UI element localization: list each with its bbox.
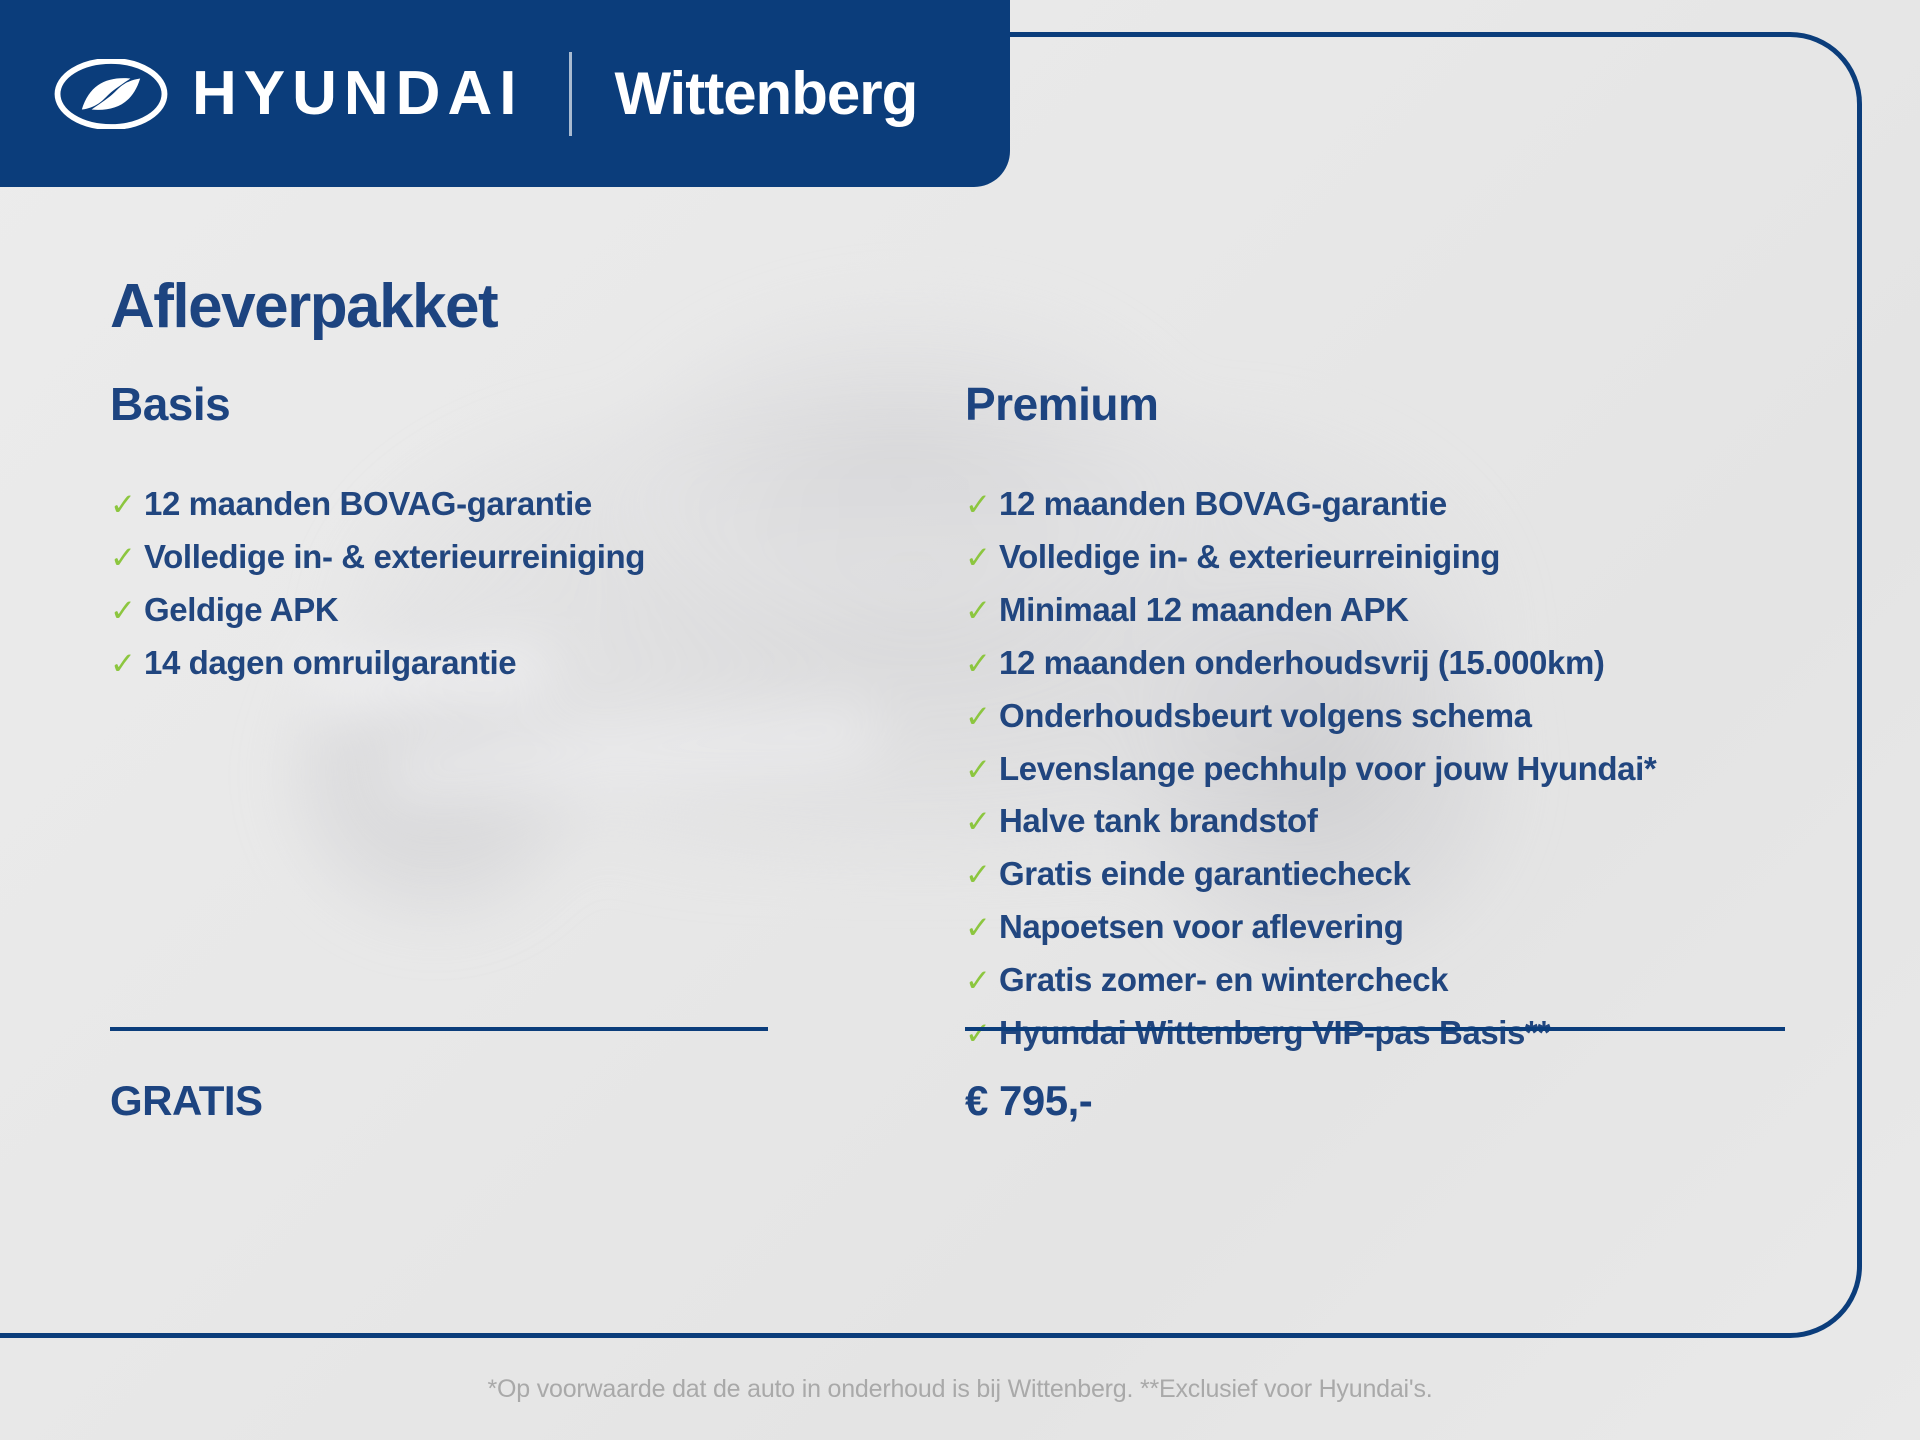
- list-item: ✓ Minimaal 12 maanden APK: [965, 589, 1785, 631]
- check-icon: ✓: [965, 908, 999, 947]
- feature-label: 14 dagen omruilgarantie: [144, 642, 516, 684]
- package-title-basis: Basis: [110, 377, 760, 431]
- check-icon: ✓: [965, 644, 999, 683]
- footnote-text: *Op voorwaarde dat de auto in onderhoud …: [0, 1375, 1920, 1404]
- list-item: ✓ Gratis zomer- en wintercheck: [965, 959, 1785, 1001]
- price-block-premium: € 795,-: [965, 1027, 1785, 1125]
- list-item: ✓ 12 maanden onderhoudsvrij (15.000km): [965, 642, 1785, 684]
- list-item: ✓ 12 maanden BOVAG-garantie: [965, 483, 1785, 525]
- check-icon: ✓: [110, 591, 144, 630]
- price-value-basis: GRATIS: [110, 1077, 760, 1125]
- feature-label: Gratis einde garantiecheck: [999, 853, 1410, 895]
- check-icon: ✓: [965, 591, 999, 630]
- page-title: Afleverpakket: [110, 271, 497, 342]
- feature-label: Napoetsen voor aflevering: [999, 906, 1403, 948]
- check-icon: ✓: [965, 697, 999, 736]
- check-icon: ✓: [965, 855, 999, 894]
- list-item: ✓ Volledige in- & exterieurreiniging: [110, 536, 760, 578]
- feature-list-basis: ✓ 12 maanden BOVAG-garantie ✓ Volledige …: [110, 483, 760, 684]
- feature-label: 12 maanden BOVAG-garantie: [144, 483, 592, 525]
- brand-wordmark: HYUNDAI: [192, 58, 523, 129]
- list-item: ✓ Geldige APK: [110, 589, 760, 631]
- feature-label: Minimaal 12 maanden APK: [999, 589, 1409, 631]
- main-content: Afleverpakket Basis ✓ 12 maanden BOVAG-g…: [0, 187, 1920, 1357]
- list-item: ✓ 12 maanden BOVAG-garantie: [110, 483, 760, 525]
- feature-label: Onderhoudsbeurt volgens schema: [999, 695, 1532, 737]
- brand-header-bar: HYUNDAI Wittenberg: [0, 0, 1010, 187]
- feature-label: Volledige in- & exterieurreiniging: [144, 536, 645, 578]
- feature-label: Gratis zomer- en wintercheck: [999, 959, 1448, 1001]
- list-item: ✓ Levenslange pechhulp voor jouw Hyundai…: [965, 748, 1785, 790]
- hyundai-logo-icon: [52, 59, 170, 129]
- check-icon: ✓: [110, 538, 144, 577]
- feature-label: Levenslange pechhulp voor jouw Hyundai*: [999, 748, 1656, 790]
- vertical-divider-icon: [569, 52, 572, 136]
- feature-label: 12 maanden BOVAG-garantie: [999, 483, 1447, 525]
- feature-list-premium: ✓ 12 maanden BOVAG-garantie ✓ Volledige …: [965, 483, 1785, 1054]
- check-icon: ✓: [110, 485, 144, 524]
- check-icon: ✓: [965, 961, 999, 1000]
- check-icon: ✓: [110, 644, 144, 683]
- check-icon: ✓: [965, 485, 999, 524]
- feature-label: Geldige APK: [144, 589, 338, 631]
- check-icon: ✓: [965, 538, 999, 577]
- dealer-name: Wittenberg: [614, 59, 917, 128]
- package-column-basis: Basis ✓ 12 maanden BOVAG-garantie ✓ Voll…: [110, 377, 760, 695]
- check-icon: ✓: [965, 802, 999, 841]
- feature-label: Halve tank brandstof: [999, 800, 1317, 842]
- price-divider: [110, 1027, 768, 1031]
- list-item: ✓ Halve tank brandstof: [965, 800, 1785, 842]
- feature-label: 12 maanden onderhoudsvrij (15.000km): [999, 642, 1604, 684]
- check-icon: ✓: [965, 750, 999, 789]
- package-title-premium: Premium: [965, 377, 1785, 431]
- list-item: ✓ Volledige in- & exterieurreiniging: [965, 536, 1785, 578]
- price-divider: [965, 1027, 1785, 1031]
- list-item: ✓ Napoetsen voor aflevering: [965, 906, 1785, 948]
- price-block-basis: GRATIS: [110, 1027, 760, 1125]
- package-column-premium: Premium ✓ 12 maanden BOVAG-garantie ✓ Vo…: [965, 377, 1785, 1065]
- list-item: ✓ Gratis einde garantiecheck: [965, 853, 1785, 895]
- poster-root: HYUNDAI Wittenberg Afleverpakket Basis ✓…: [0, 0, 1920, 1440]
- price-value-premium: € 795,-: [965, 1077, 1785, 1125]
- feature-label: Volledige in- & exterieurreiniging: [999, 536, 1500, 578]
- list-item: ✓ Onderhoudsbeurt volgens schema: [965, 695, 1785, 737]
- list-item: ✓ 14 dagen omruilgarantie: [110, 642, 760, 684]
